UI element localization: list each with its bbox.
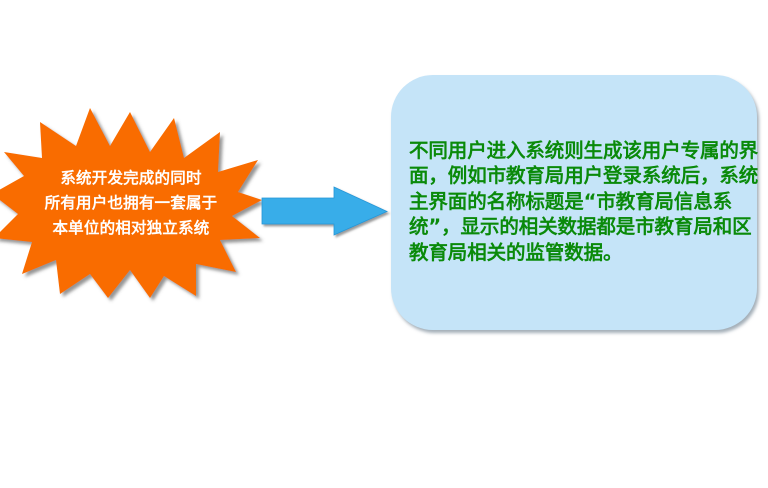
explosion-polygon — [0, 108, 262, 298]
explosion-shape-svg — [0, 108, 262, 298]
slide-canvas: 系统开发完成的同时 所有用户也拥有一套属于 本单位的相对独立系统 不同用户进入系… — [0, 0, 768, 488]
right-arrow-svg — [259, 186, 391, 238]
right-arrow-polygon — [262, 187, 387, 235]
explosion-callout[interactable] — [0, 108, 262, 298]
right-arrow[interactable] — [259, 186, 391, 238]
rounded-rectangle-panel-text: 不同用户进入系统则生成该用户专属的界面，例如市教育局用户登录系统后，系统主界面的… — [409, 138, 759, 265]
